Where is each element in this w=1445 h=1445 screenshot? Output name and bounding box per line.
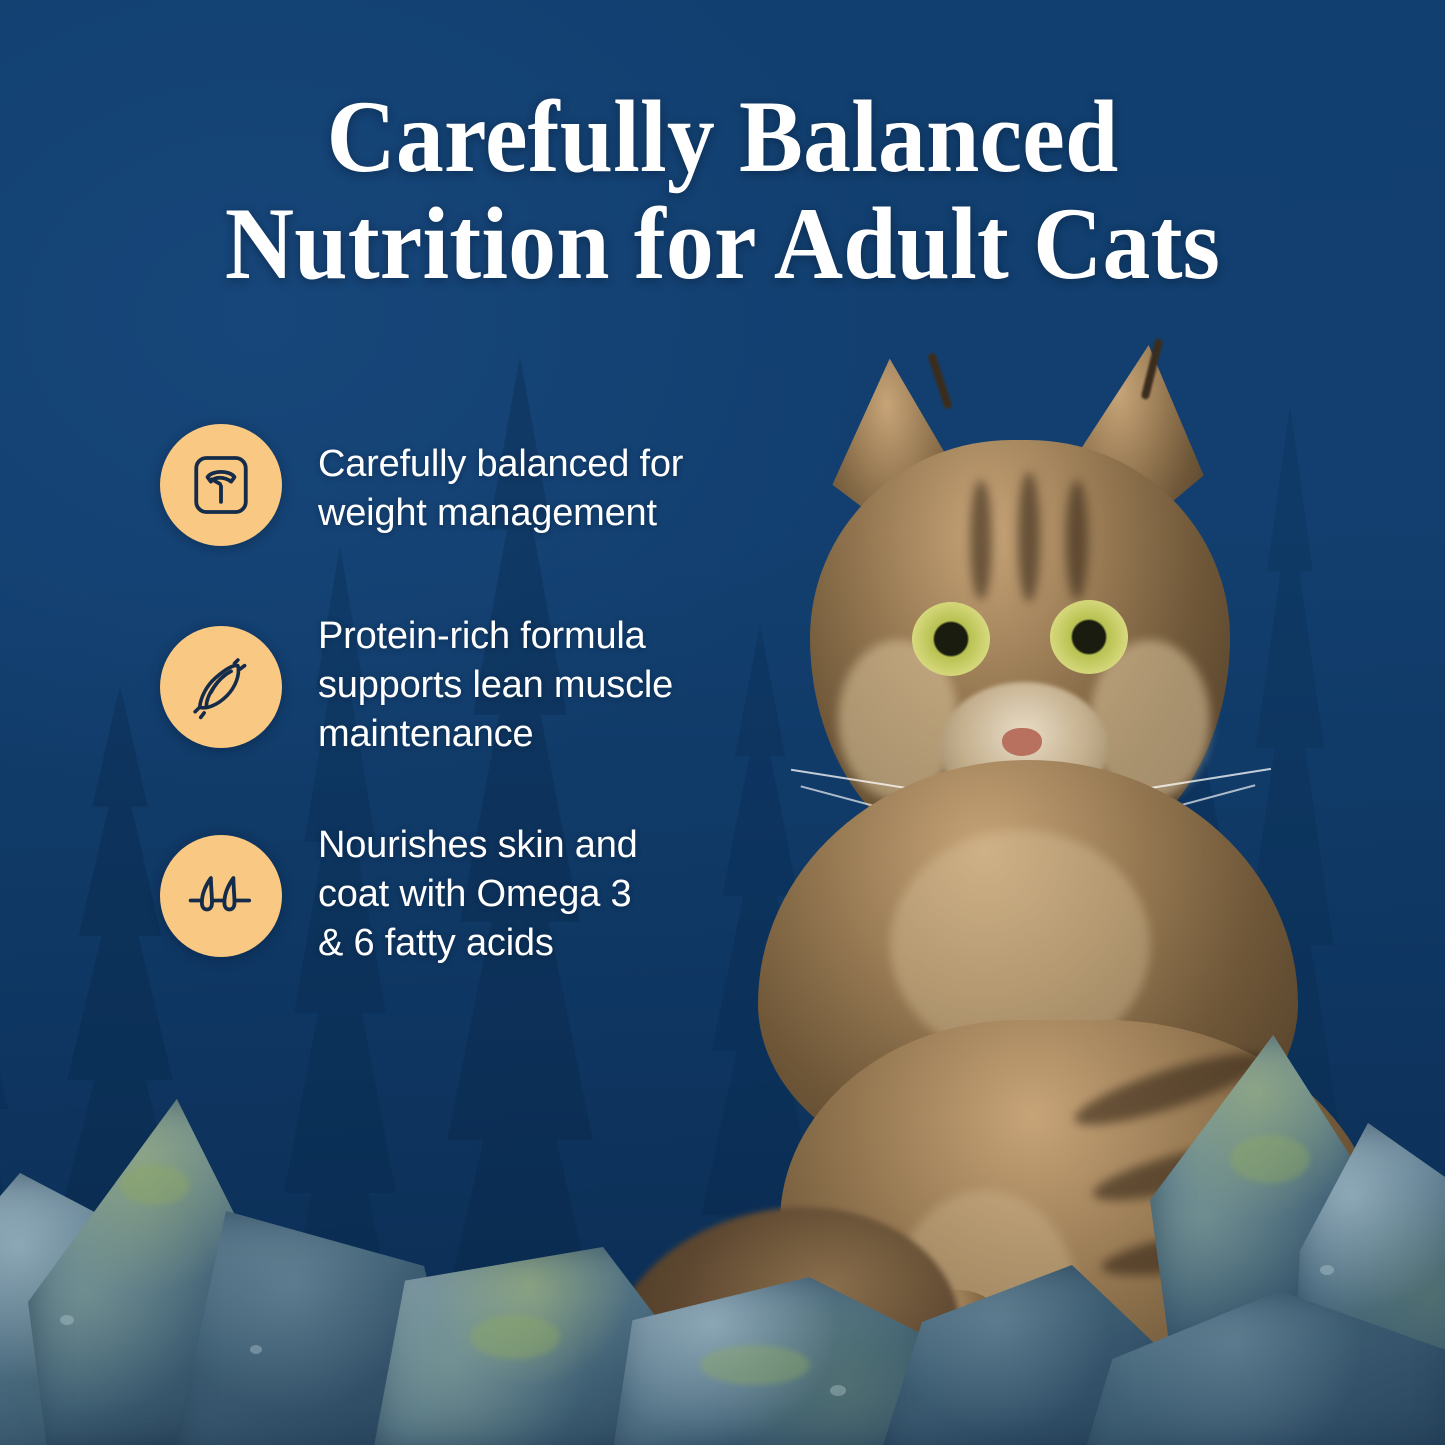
promo-banner: Carefully Balanced Nutrition for Adult C… (0, 0, 1445, 1445)
whisker (1093, 768, 1271, 798)
rock (612, 1277, 952, 1445)
hair-follicle-icon (185, 860, 257, 932)
rock (172, 1211, 472, 1445)
whisker (791, 769, 959, 798)
ruff-highlight (890, 830, 1150, 1060)
whisker (800, 785, 955, 828)
cat-ruff (758, 760, 1298, 1180)
muscle-fiber-icon (185, 651, 257, 723)
body-stripe (1098, 1212, 1316, 1287)
moss-patch (1230, 1135, 1310, 1183)
cat-front-leg (880, 1290, 1010, 1445)
cat-body (780, 1020, 1380, 1445)
page-title: Carefully Balanced Nutrition for Adult C… (51, 84, 1395, 298)
cat-eye-left (912, 602, 990, 676)
leg-highlight (898, 1315, 984, 1445)
moss-patch (120, 1165, 190, 1205)
ear-tuft-left (927, 352, 953, 410)
rock (372, 1247, 702, 1445)
feature-item-weight: Carefully balanced for weight management (160, 424, 800, 546)
rock-speckle (1320, 1265, 1334, 1275)
feature-item-protein: Protein-rich formula supports lean muscl… (160, 612, 800, 759)
moss-patch (470, 1315, 560, 1359)
rock (1082, 1291, 1445, 1445)
feature-list: Carefully balanced for weight management… (160, 424, 800, 968)
cat-eye-right (1050, 600, 1128, 674)
cat-ear-right (1040, 339, 1215, 575)
forehead-stripe (1066, 480, 1088, 600)
hair-follicle-badge (160, 835, 282, 957)
pine-tree-silhouette (820, 465, 1060, 1445)
forehead-stripe (970, 480, 992, 600)
moss-patch (700, 1345, 810, 1385)
rock (1292, 1123, 1445, 1413)
rock-speckle (60, 1315, 74, 1325)
cat-tail (581, 1181, 979, 1445)
pine-tree-silhouette (1065, 545, 1295, 1445)
whisker (1093, 784, 1256, 829)
rock (0, 1173, 230, 1445)
feature-text: Protein-rich formula supports lean muscl… (318, 612, 673, 759)
weight-scale-icon (185, 449, 257, 521)
cheek-highlight (1090, 640, 1210, 800)
cat-muzzle (940, 682, 1108, 812)
weight-scale-badge (160, 424, 282, 546)
cat-ear-left (821, 353, 985, 573)
feature-text: Nourishes skin and coat with Omega 3 & 6… (318, 821, 638, 968)
body-stripe (1089, 1125, 1302, 1213)
cat-nose (1002, 728, 1042, 756)
cat-head (810, 440, 1230, 870)
muscle-fiber-badge (160, 626, 282, 748)
body-highlight (890, 1190, 1080, 1430)
body-stripe (1069, 1040, 1271, 1138)
feature-item-skin-coat: Nourishes skin and coat with Omega 3 & 6… (160, 821, 800, 968)
rock-speckle (250, 1345, 262, 1354)
rock-speckle (830, 1385, 846, 1396)
pine-tree-silhouette (0, 745, 65, 1445)
cheek-highlight (838, 640, 958, 800)
forehead-stripe (1018, 472, 1040, 602)
rock (880, 1265, 1180, 1445)
rock (28, 1099, 268, 1445)
ear-tuft-right (1141, 338, 1164, 400)
rock-foreground (0, 1015, 1445, 1445)
pine-tree-silhouette (1195, 405, 1385, 1445)
feature-text: Carefully balanced for weight management (318, 424, 683, 538)
rock (1150, 1035, 1370, 1365)
